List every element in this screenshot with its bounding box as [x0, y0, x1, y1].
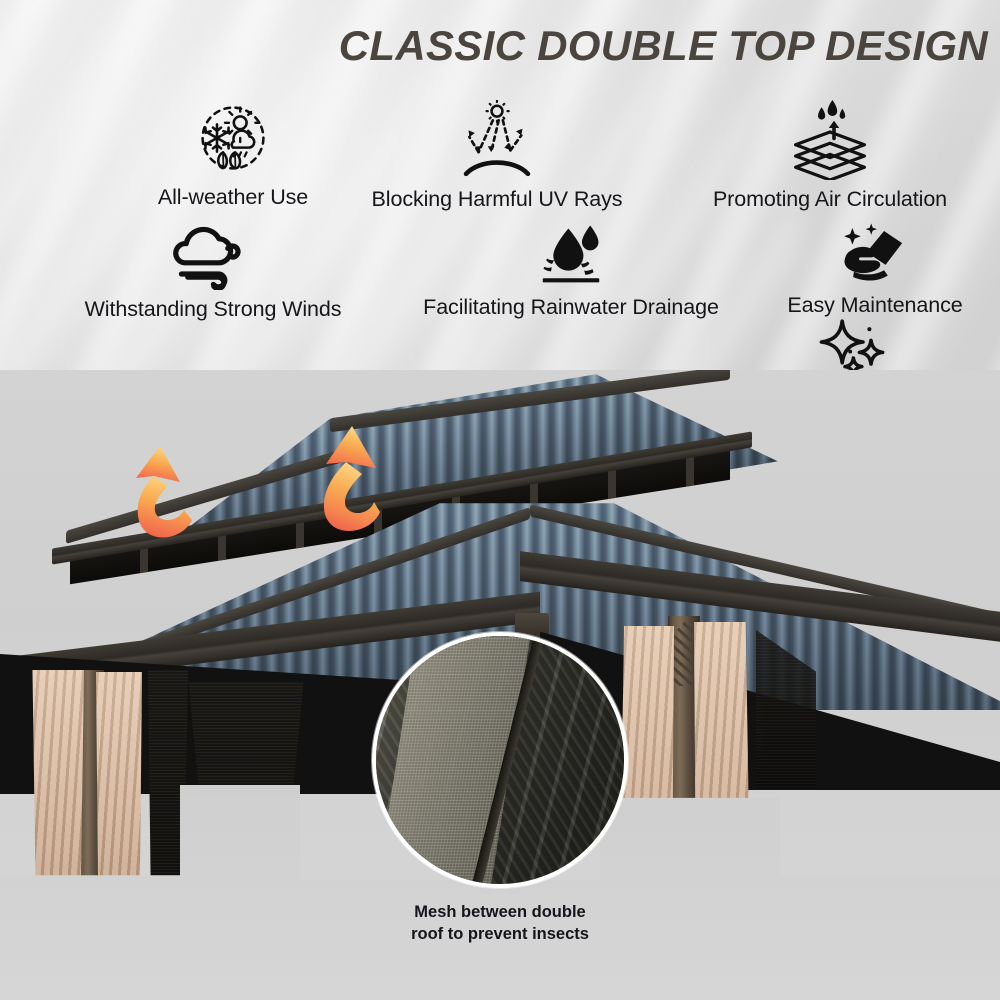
- four-seasons-icon: [98, 98, 368, 183]
- page-title: CLASSIC DOUBLE TOP DESIGN: [339, 22, 988, 70]
- feature-uv-blocking: Blocking Harmful UV Rays: [352, 100, 642, 212]
- water-drops-icon: [392, 224, 750, 293]
- layered-airflow-icon: [670, 100, 990, 185]
- cleaning-hand-icon: [760, 222, 990, 291]
- wind-cloud-icon: [48, 226, 378, 295]
- feature-air-circulation: Promoting Air Circulation: [670, 100, 990, 212]
- detail-zoom-inset[interactable]: [372, 632, 628, 888]
- feature-label: Easy Maintenance: [760, 293, 990, 318]
- airflow-arrow-icon: [130, 390, 450, 550]
- feature-label: All-weather Use: [98, 185, 368, 210]
- feature-all-weather: All-weather Use: [98, 98, 368, 210]
- gazebo-product-photo: Mesh between double roof to prevent inse…: [0, 370, 1000, 1000]
- feature-label: Promoting Air Circulation: [670, 187, 990, 212]
- feature-label: Blocking Harmful UV Rays: [352, 187, 642, 212]
- feature-rainwater-drainage: Facilitating Rainwater Drainage: [392, 224, 750, 320]
- detail-caption: Mesh between double roof to prevent inse…: [378, 902, 622, 946]
- feature-strong-winds: Withstanding Strong Winds: [48, 226, 378, 322]
- uv-blocking-icon: [352, 100, 642, 185]
- caption-line-2: roof to prevent insects: [378, 924, 622, 946]
- feature-label: Facilitating Rainwater Drainage: [392, 295, 750, 320]
- infographic-canvas: CLASSIC DOUBLE TOP DESIGN: [0, 0, 1000, 1000]
- feature-label: Withstanding Strong Winds: [48, 297, 378, 322]
- feature-easy-maintenance: Easy Maintenance: [760, 222, 990, 318]
- caption-line-1: Mesh between double: [378, 902, 622, 924]
